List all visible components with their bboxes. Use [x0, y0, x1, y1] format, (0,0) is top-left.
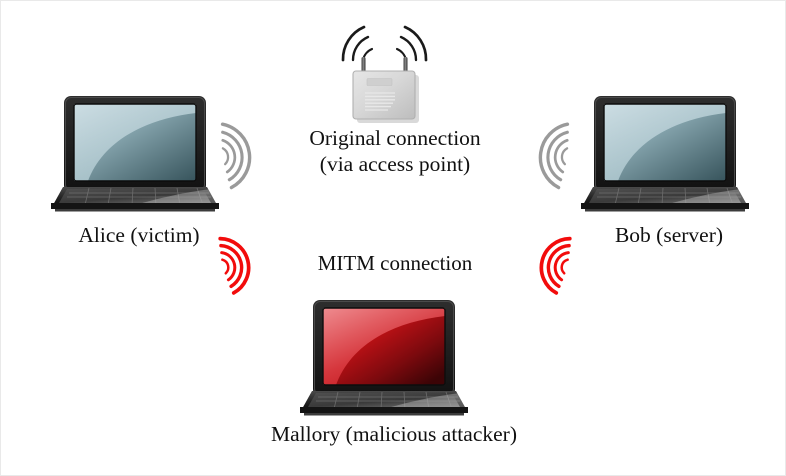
laptop-icon-bob [575, 93, 755, 217]
node-bob[interactable] [575, 93, 755, 217]
node-mallory[interactable] [294, 297, 474, 421]
laptop-keyboard [589, 188, 747, 205]
signal-alice-accesspoint [214, 123, 276, 189]
laptop-keyboard [308, 392, 466, 409]
access-point-signal-right [397, 27, 426, 60]
signal-accesspoint-bob [514, 123, 576, 189]
label-alice: Alice (victim) [39, 222, 239, 248]
label-original-connection: Original connection (via access point) [287, 125, 503, 177]
diagram-canvas: Original connection (via access point) M… [0, 0, 786, 476]
access-point-signal-left [343, 27, 372, 60]
node-alice[interactable] [45, 93, 225, 217]
laptop-icon-alice [45, 93, 225, 217]
node-access-point[interactable] [331, 13, 449, 125]
wireless-signal-icon [214, 123, 276, 189]
label-original-connection-line1: Original connection [287, 125, 503, 151]
laptop-icon-mallory [294, 297, 474, 421]
laptop-front-edge [581, 203, 749, 209]
laptop-front-edge [51, 203, 219, 209]
access-point-display [367, 79, 392, 86]
laptop-front-edge [300, 407, 468, 413]
access-point-icon [331, 13, 449, 125]
laptop-keyboard [59, 188, 217, 205]
label-mitm-connection: MITM connection [284, 251, 506, 277]
label-original-connection-line2: (via access point) [287, 151, 503, 177]
label-bob: Bob (server) [569, 222, 769, 248]
label-mallory: Mallory (malicious attacker) [214, 421, 574, 447]
wireless-signal-icon [514, 123, 576, 189]
